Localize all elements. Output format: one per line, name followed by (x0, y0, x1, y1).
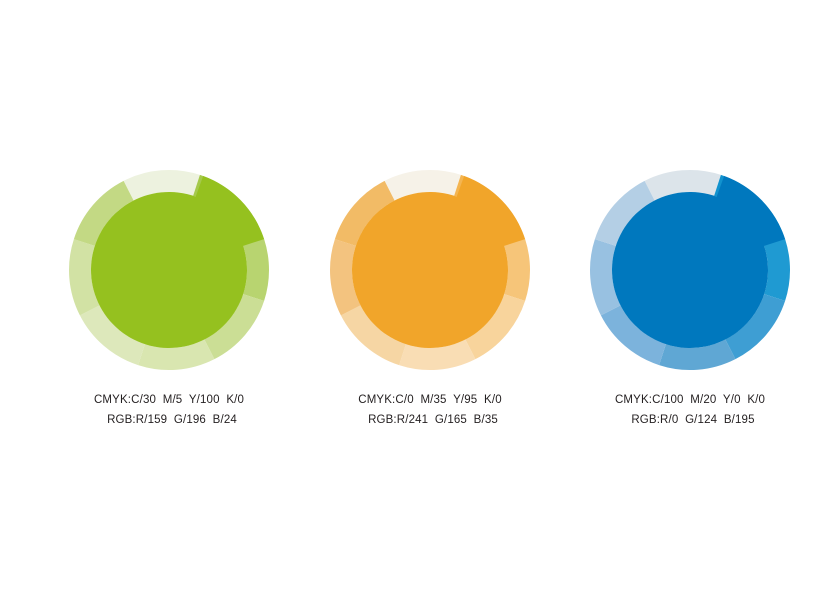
green-cmyk-label: CMYK:C/30 M/5 Y/100 K/0 (39, 390, 299, 410)
orange-rgb-label: RGB:R/241 G/165 B/35 (300, 410, 560, 430)
blue-cmyk-label: CMYK:C/100 M/20 Y/0 K/0 (560, 390, 820, 410)
orange-wheel-graphic (328, 168, 532, 372)
blue-rgb-label: RGB:R/0 G/124 B/195 (560, 410, 820, 430)
orange-swatch: CMYK:C/0 M/35 Y/95 K/0 RGB:R/241 G/165 B… (300, 168, 560, 431)
blue-caption: CMYK:C/100 M/20 Y/0 K/0 RGB:R/0 G/124 B/… (560, 390, 820, 431)
green-swatch: CMYK:C/30 M/5 Y/100 K/0 RGB:R/159 G/196 … (39, 168, 299, 431)
orange-cmyk-label: CMYK:C/0 M/35 Y/95 K/0 (300, 390, 560, 410)
green-color-wheel (67, 168, 271, 372)
blue-wheel-graphic (588, 168, 792, 372)
green-rgb-label: RGB:R/159 G/196 B/24 (39, 410, 299, 430)
green-wheel-graphic (67, 168, 271, 372)
color-palette-board: CMYK:C/30 M/5 Y/100 K/0 RGB:R/159 G/196 … (0, 0, 838, 597)
blue-color-wheel (588, 168, 792, 372)
green-caption: CMYK:C/30 M/5 Y/100 K/0 RGB:R/159 G/196 … (39, 390, 299, 431)
orange-color-wheel (328, 168, 532, 372)
blue-swatch: CMYK:C/100 M/20 Y/0 K/0 RGB:R/0 G/124 B/… (560, 168, 820, 431)
orange-caption: CMYK:C/0 M/35 Y/95 K/0 RGB:R/241 G/165 B… (300, 390, 560, 431)
